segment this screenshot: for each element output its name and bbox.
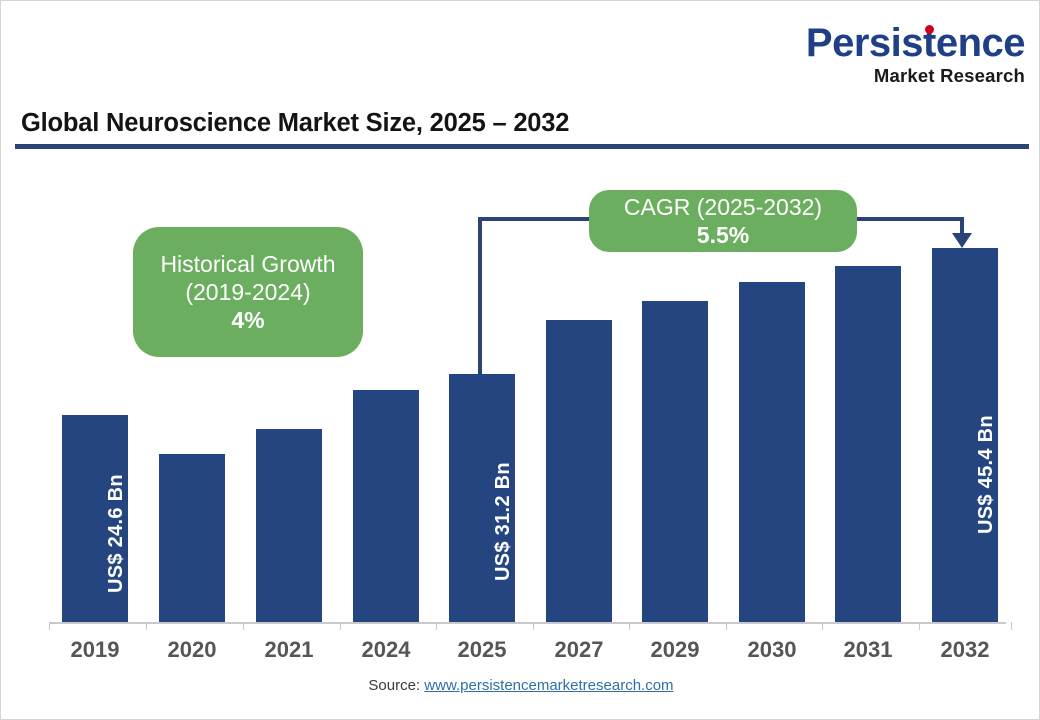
bar-value-label-2025: US$ 31.2 Bn [492, 462, 515, 581]
x-tick-2019 [49, 622, 50, 630]
callout-historical-line1: Historical Growth [160, 250, 335, 278]
source-link[interactable]: www.persistencemarketresearch.com [424, 677, 673, 694]
x-tick-2027 [533, 622, 534, 630]
callout-cagr-value: 5.5% [697, 221, 749, 250]
callout-historical-line2: (2019-2024) [185, 278, 310, 306]
bar-2020 [159, 454, 225, 622]
bar-value-label-2032: US$ 45.4 Bn [975, 415, 998, 534]
bar-2021 [256, 429, 322, 622]
callout-historical-value: 4% [231, 306, 264, 335]
x-tick-2025 [436, 622, 437, 630]
x-tick-2021 [243, 622, 244, 630]
x-tick-2032 [919, 622, 920, 630]
x-axis-line [49, 622, 1006, 624]
x-tick-2024 [340, 622, 341, 630]
callout-cagr: CAGR (2025-2032) 5.5% [589, 190, 857, 252]
bar-chart-plot-area: US$ 24.6 BnUS$ 31.2 BnUS$ 45.4 Bn 201920… [1, 1, 1040, 720]
cagr-connector-left-stem [478, 217, 482, 375]
x-tick-2029 [629, 622, 630, 630]
x-tick-2020 [146, 622, 147, 630]
bar-2030 [739, 282, 805, 622]
bar-2031 [835, 266, 901, 622]
bar-2027 [546, 320, 612, 622]
source-prefix: Source: [368, 677, 424, 694]
cagr-connector-arrow-icon [952, 233, 972, 248]
bar-value-label-2019: US$ 24.6 Bn [105, 474, 128, 593]
source-footer: Source: www.persistencemarketresearch.co… [1, 677, 1040, 694]
chart-canvas: Persistence Market Research Global Neuro… [0, 0, 1040, 720]
x-tick-2031 [822, 622, 823, 630]
bar-2024 [353, 390, 419, 622]
x-tick-2030 [726, 622, 727, 630]
bar-2029 [642, 301, 708, 622]
x-tick-end [1011, 622, 1012, 630]
x-axis-label-2032: 2032 [905, 637, 1025, 663]
callout-historical-growth: Historical Growth (2019-2024) 4% [133, 227, 363, 357]
callout-cagr-line1: CAGR (2025-2032) [624, 193, 822, 221]
